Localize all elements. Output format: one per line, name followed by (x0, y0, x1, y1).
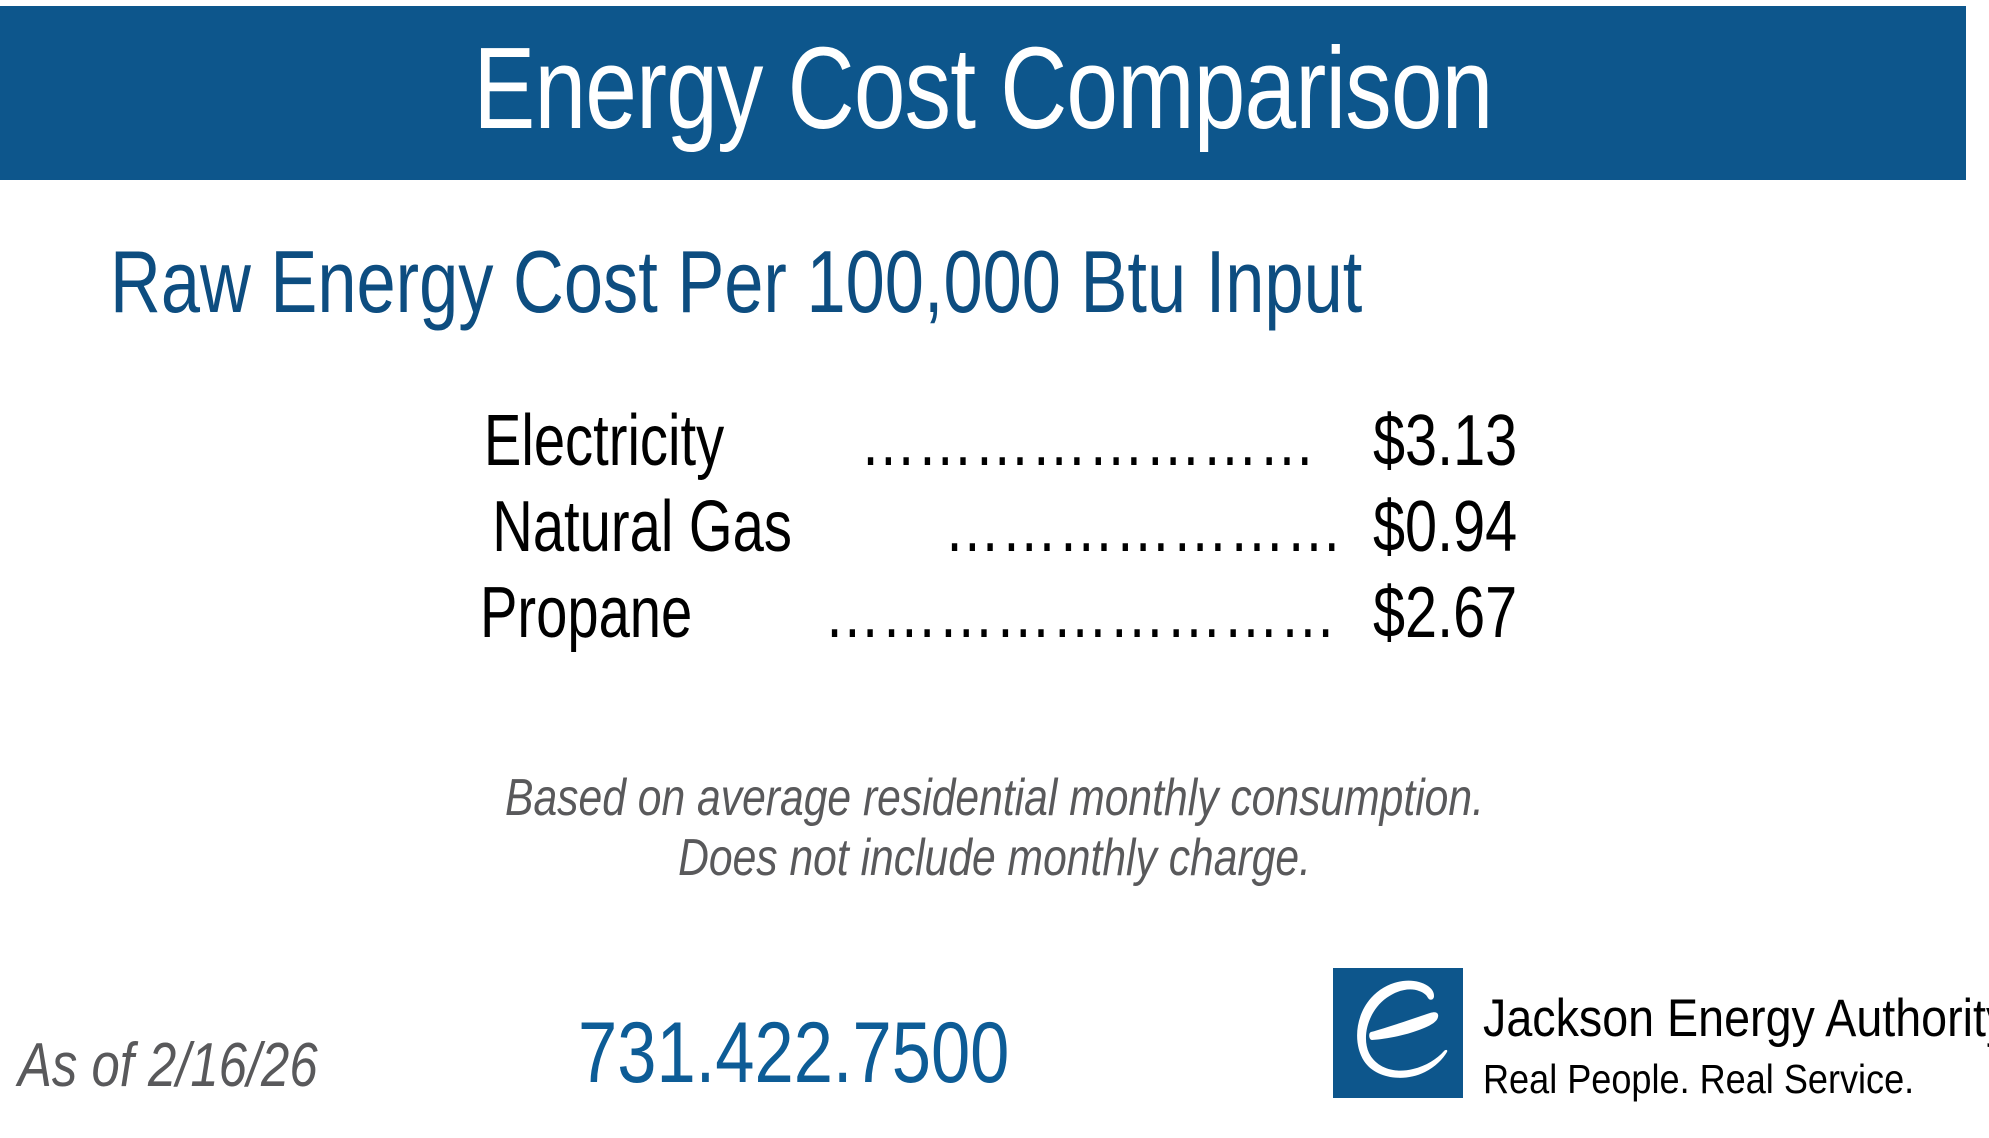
page-title: Energy Cost Comparison (473, 30, 1492, 156)
cost-value: $2.67 (1373, 577, 1517, 649)
logo-text: Jackson Energy Authority Real People. Re… (1483, 968, 1989, 1100)
cost-label: Electricity (484, 405, 724, 477)
table-row: Natural Gas ………………… $0.94 (0, 491, 1989, 577)
cost-label: Natural Gas (492, 491, 792, 563)
subtitle: Raw Energy Cost Per 100,000 Btu Input (110, 238, 1362, 326)
logo-company-name: Jackson Energy Authority (1483, 992, 1989, 1045)
cost-table: Electricity …………………… $3.13 Natural Gas …… (0, 405, 1989, 663)
footnote-line-1: Based on average residential monthly con… (179, 768, 1810, 828)
footnote-line-2: Does not include monthly charge. (179, 828, 1810, 888)
table-row: Propane ……………………… $2.67 (0, 577, 1989, 663)
cost-label: Propane (480, 577, 692, 649)
leader-dots: …………………… (860, 405, 1316, 477)
jea-e-mark-icon (1333, 968, 1463, 1098)
footnote: Based on average residential monthly con… (0, 768, 1989, 889)
leader-dots: ……………………… (824, 577, 1336, 649)
phone-number[interactable]: 731.422.7500 (578, 1010, 1009, 1096)
cost-value: $0.94 (1373, 491, 1517, 563)
logo-tagline: Real People. Real Service. (1483, 1059, 1989, 1100)
leader-dots: ………………… (944, 491, 1343, 563)
cost-value: $3.13 (1373, 405, 1517, 477)
table-row: Electricity …………………… $3.13 (0, 405, 1989, 491)
as-of-date: As of 2/16/26 (18, 1035, 318, 1097)
header-bar: Energy Cost Comparison (0, 6, 1966, 180)
logo: Jackson Energy Authority Real People. Re… (1333, 968, 1989, 1100)
